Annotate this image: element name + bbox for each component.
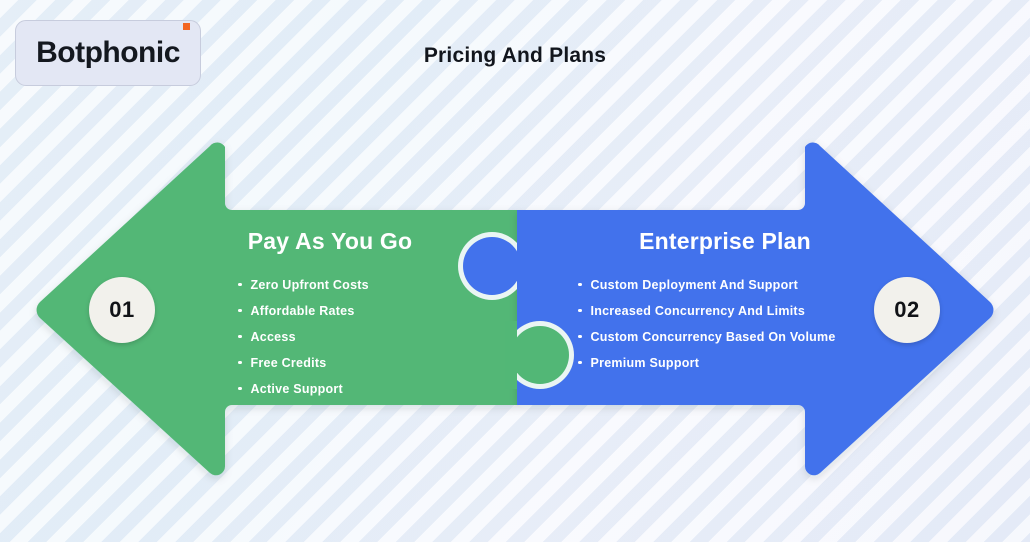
bullet-icon <box>578 361 582 365</box>
feature-item: Custom Concurrency Based On Volume <box>578 324 836 350</box>
feature-item: Free Credits <box>238 350 369 376</box>
puzzle-knob-blue <box>458 232 526 300</box>
feature-label: Custom Concurrency Based On Volume <box>591 324 836 350</box>
plan-heading-enterprise: Enterprise Plan <box>530 228 920 255</box>
feature-label: Affordable Rates <box>251 298 355 324</box>
feature-label: Access <box>251 324 296 350</box>
feature-label: Premium Support <box>591 350 700 376</box>
feature-label: Increased Concurrency And Limits <box>591 298 806 324</box>
feature-item: Active Support <box>238 376 369 402</box>
bullet-icon <box>238 283 242 287</box>
feature-list-pay-as-you-go: Zero Upfront Costs Affordable Rates Acce… <box>238 272 369 402</box>
plan-number-badge-02: 02 <box>874 277 940 343</box>
bullet-icon <box>238 361 242 365</box>
feature-list-enterprise: Custom Deployment And Support Increased … <box>578 272 836 376</box>
feature-item: Affordable Rates <box>238 298 369 324</box>
bullet-icon <box>238 309 242 313</box>
feature-item: Custom Deployment And Support <box>578 272 836 298</box>
feature-label: Custom Deployment And Support <box>591 272 798 298</box>
plan-arrows-graphic <box>0 0 1030 542</box>
feature-label: Active Support <box>251 376 343 402</box>
bullet-icon <box>578 309 582 313</box>
infographic-canvas: Botphonic Pricing And Plans <box>0 0 1030 542</box>
plan-heading-pay-as-you-go: Pay As You Go <box>210 228 450 255</box>
plan-number-badge-01: 01 <box>89 277 155 343</box>
feature-item: Access <box>238 324 369 350</box>
bullet-icon <box>238 387 242 391</box>
bullet-icon <box>578 283 582 287</box>
bullet-icon <box>238 335 242 339</box>
feature-item: Increased Concurrency And Limits <box>578 298 836 324</box>
feature-item: Zero Upfront Costs <box>238 272 369 298</box>
feature-item: Premium Support <box>578 350 836 376</box>
bullet-icon <box>578 335 582 339</box>
feature-label: Zero Upfront Costs <box>251 272 369 298</box>
feature-label: Free Credits <box>251 350 327 376</box>
